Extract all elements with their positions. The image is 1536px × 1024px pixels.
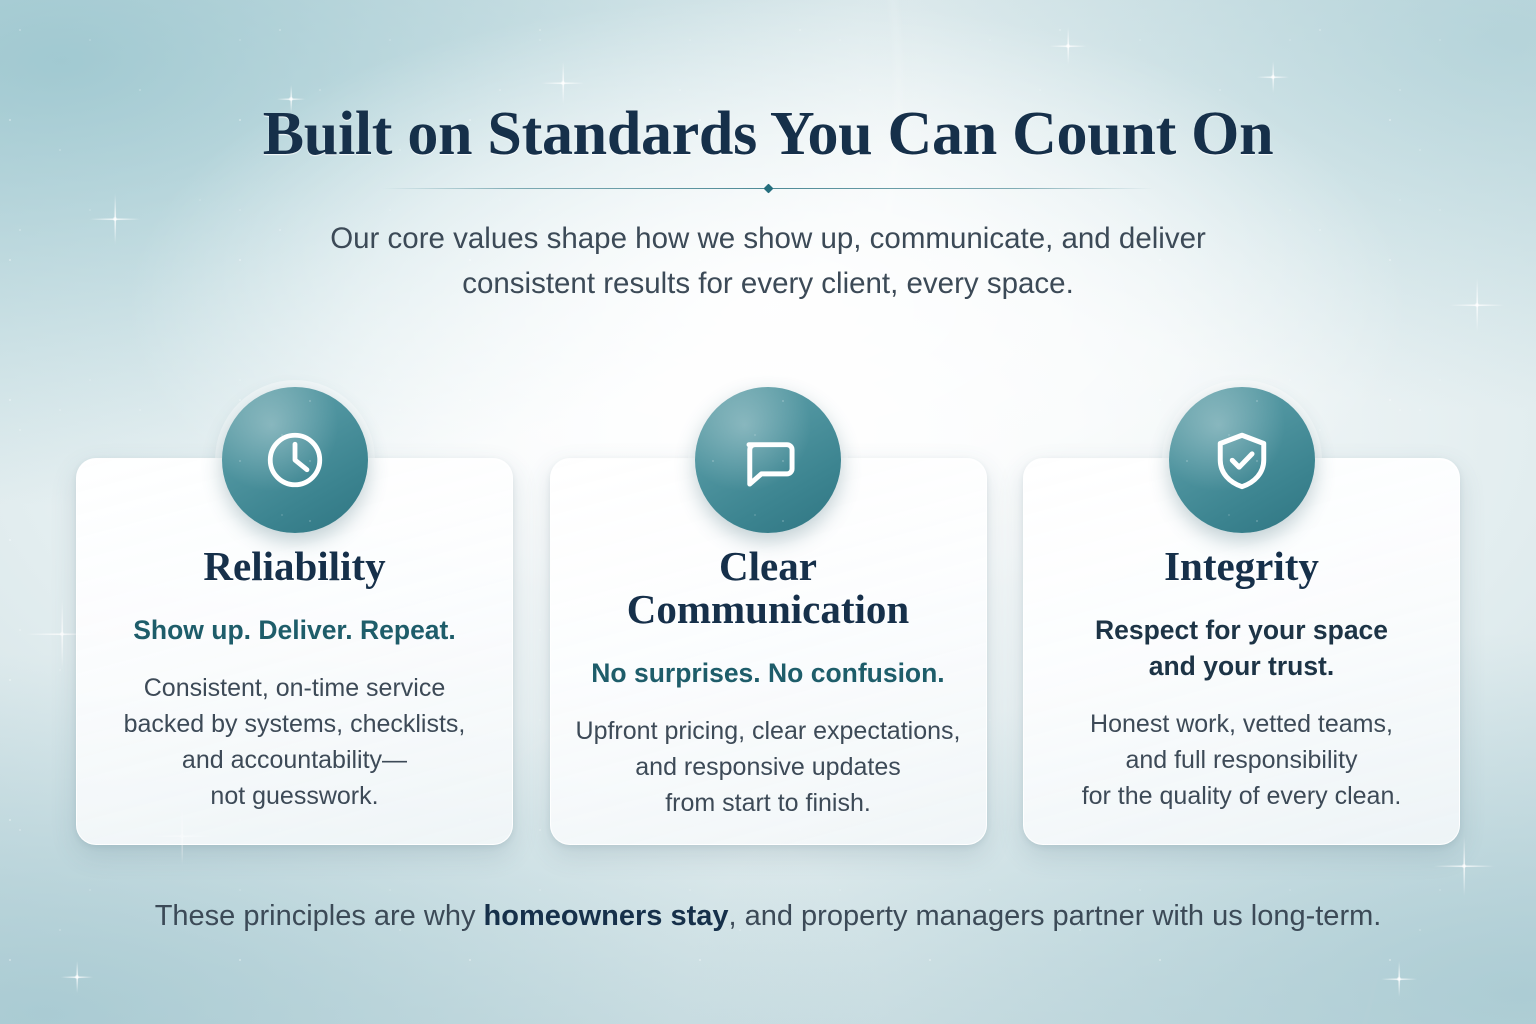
footer-prefix: These principles are why bbox=[155, 900, 484, 932]
card-body-line: not guesswork. bbox=[210, 782, 378, 810]
card-body-line: Upfront pricing, clear expectations, bbox=[576, 717, 961, 745]
card-body-line: backed by systems, checklists, bbox=[124, 710, 466, 738]
card-tagline: No surprises. No confusion. bbox=[575, 655, 962, 691]
card-body-line: and responsive updates bbox=[635, 753, 900, 781]
card-body: Upfront pricing, clear expectations, and… bbox=[575, 713, 962, 821]
card-body-line: and accountability— bbox=[182, 746, 407, 774]
card-body-line: Consistent, on-time service bbox=[144, 674, 446, 702]
footer-emphasis: homeowners stay bbox=[484, 900, 729, 932]
value-cards-row: Reliability Show up. Deliver. Repeat. Co… bbox=[76, 458, 1460, 845]
clock-icon bbox=[222, 387, 368, 533]
value-card-integrity[interactable]: Integrity Respect for your space and you… bbox=[1023, 458, 1460, 845]
card-body-line: from start to finish. bbox=[665, 789, 871, 817]
card-body: Honest work, vetted teams, and full resp… bbox=[1048, 706, 1435, 814]
footer-statement: These principles are why homeowners stay… bbox=[68, 896, 1468, 936]
card-title: Reliability bbox=[101, 545, 488, 588]
infographic-canvas: Built on Standards You Can Count On Our … bbox=[0, 0, 1536, 1024]
card-body-line: Honest work, vetted teams, bbox=[1090, 710, 1393, 738]
speech-bubble-icon bbox=[695, 387, 841, 533]
page-subtitle: Our core values shape how we show up, co… bbox=[268, 216, 1268, 306]
title-divider bbox=[382, 187, 1154, 190]
subtitle-line-1: Our core values shape how we show up, co… bbox=[330, 222, 1206, 255]
subtitle-line-2: consistent results for every client, eve… bbox=[462, 267, 1074, 300]
card-title: Clear Communication bbox=[575, 545, 962, 631]
shield-check-icon bbox=[1169, 387, 1315, 533]
page-title: Built on Standards You Can Count On bbox=[0, 99, 1536, 170]
card-body: Consistent, on-time service backed by sy… bbox=[101, 670, 488, 814]
card-body-line: for the quality of every clean. bbox=[1082, 782, 1402, 810]
card-tagline-line: and your trust. bbox=[1149, 651, 1335, 681]
card-tagline: Show up. Deliver. Repeat. bbox=[101, 612, 488, 648]
footer-suffix: , and property managers partner with us … bbox=[729, 900, 1382, 932]
value-card-clear-communication[interactable]: Clear Communication No surprises. No con… bbox=[550, 458, 987, 845]
divider-dot bbox=[763, 184, 773, 194]
card-tagline: Respect for your space and your trust. bbox=[1048, 612, 1435, 684]
card-tagline-line: Respect for your space bbox=[1095, 615, 1388, 645]
value-card-reliability[interactable]: Reliability Show up. Deliver. Repeat. Co… bbox=[76, 458, 513, 845]
card-body-line: and full responsibility bbox=[1125, 746, 1357, 774]
card-title: Integrity bbox=[1048, 545, 1435, 588]
